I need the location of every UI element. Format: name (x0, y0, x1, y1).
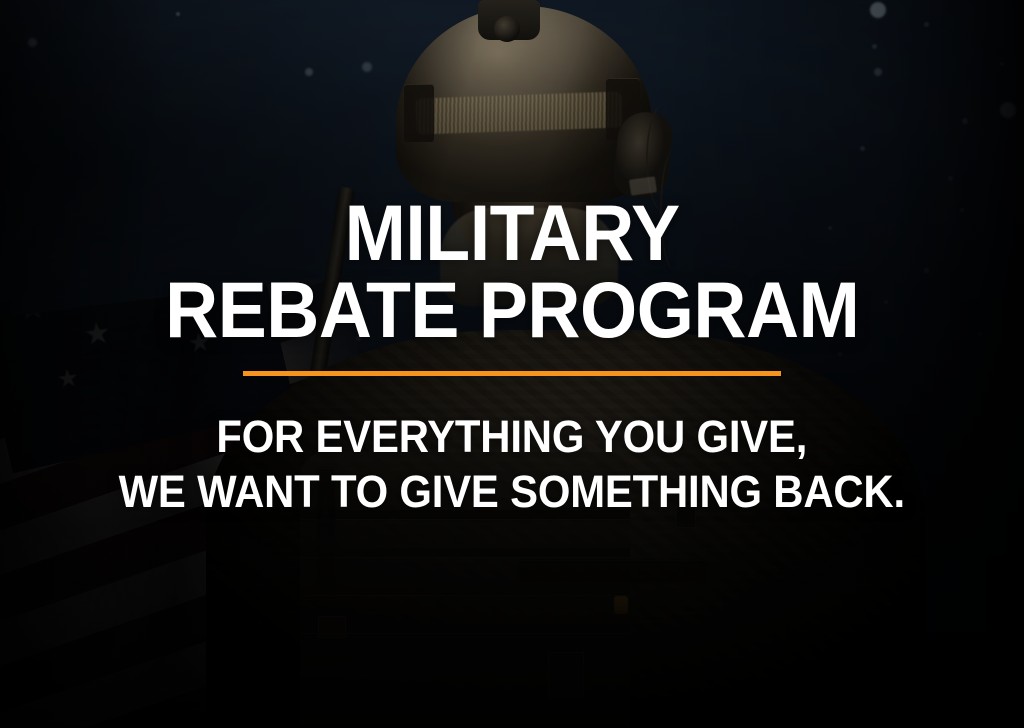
page-title-line-1: MILITARY (344, 196, 679, 269)
subheadline: FOR EVERYTHING YOU GIVE, WE WANT TO GIVE… (119, 410, 905, 520)
subheadline-line-1: FOR EVERYTHING YOU GIVE, (119, 410, 905, 465)
military-rebate-banner: ★ ★ ★ ★ ★ MILITARY REBATE PR (0, 0, 1024, 728)
subheadline-line-2: WE WANT TO GIVE SOMETHING BACK. (119, 465, 905, 520)
banner-content: MILITARY REBATE PROGRAM FOR EVERYTHING Y… (0, 0, 1024, 728)
orange-divider (243, 371, 781, 376)
page-title-line-2: REBATE PROGRAM (165, 273, 859, 346)
